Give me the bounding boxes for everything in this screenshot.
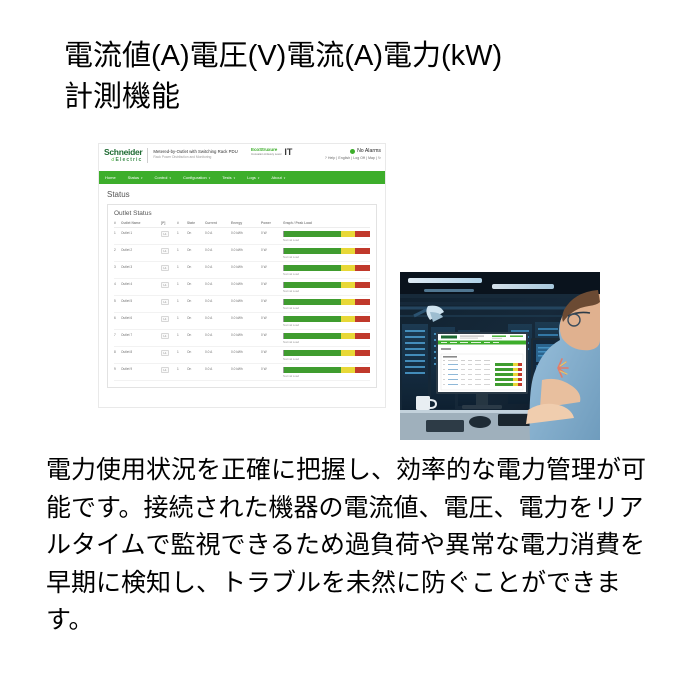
load-bar-segment-yellow: [341, 248, 355, 254]
outlet-state: On: [187, 364, 205, 381]
page-title-line2: 計測機能: [64, 77, 664, 118]
load-status-label: Normal Load: [283, 272, 370, 276]
outlet-state: On: [187, 330, 205, 347]
load-status-label: Normal Load: [283, 323, 370, 327]
outlet-name-link[interactable]: Outlet 9: [121, 364, 161, 381]
load-bar: [283, 299, 370, 305]
nav-item-status[interactable]: Status▾: [128, 175, 143, 180]
nav-item-label: Home: [105, 175, 116, 180]
load-bar-segment-green: [284, 282, 341, 288]
outlet-state: On: [187, 279, 205, 296]
table-row[interactable]: 4Outlet 4L11On0.0 A0.0 kWh0 WNormal Load: [114, 279, 370, 296]
outlet-index: 6: [114, 313, 121, 330]
load-bar-segment-yellow: [341, 231, 355, 237]
outlet-phase: L1: [161, 262, 177, 279]
load-bar: [283, 316, 370, 322]
outlet-energy: 0.0 kWh: [231, 313, 261, 330]
pdu-content: Outlet Status #Outlet Name[P]#StateCurre…: [99, 204, 385, 396]
outlet-power: 0 W: [261, 262, 283, 279]
phase-badge: L1: [161, 282, 169, 288]
load-bar-segment-green: [284, 350, 341, 356]
description-paragraph: 電力使用状況を正確に把握し、効率的な電力管理が可能です。接続された機器の電流値、…: [46, 452, 658, 640]
outlet-energy: 0.0 kWh: [231, 347, 261, 364]
chevron-down-icon: ▾: [258, 176, 260, 180]
outlet-current: 0.0 A: [205, 296, 231, 313]
outlet-energy: 0.0 kWh: [231, 330, 261, 347]
load-status-label: Normal Load: [283, 357, 370, 361]
outlet-state: On: [187, 296, 205, 313]
outlet-current: 0.0 A: [205, 228, 231, 245]
outlet-phase: L1: [161, 313, 177, 330]
outlet-phase: L1: [161, 296, 177, 313]
load-bar-segment-red: [355, 248, 371, 254]
outlet-index: 9: [114, 364, 121, 381]
phase-badge: L1: [161, 333, 169, 339]
chevron-down-icon: ▾: [141, 176, 143, 180]
nav-item-label: About: [271, 175, 281, 180]
phase-badge: L1: [161, 299, 169, 305]
outlet-state: On: [187, 228, 205, 245]
device-title: Metered-by-Outlet with Switching Rack PD…: [153, 149, 237, 160]
outlet-bank-number: 1: [177, 279, 187, 296]
load-bar-segment-yellow: [341, 282, 355, 288]
load-bar: [283, 265, 370, 271]
load-status-label: Normal Load: [283, 374, 370, 378]
outlet-name-link[interactable]: Outlet 2: [121, 245, 161, 262]
it-label: IT: [284, 148, 292, 157]
load-bar-segment-red: [355, 333, 371, 339]
load-bar-segment-red: [355, 367, 371, 373]
ecostruxure-it-logo: EcoStruxure Innovation At Every Level IT: [251, 148, 292, 157]
header-utility-links[interactable]: ? Help | English | Log Off | Map | ↻: [325, 156, 381, 160]
load-bar: [283, 282, 370, 288]
load-bar-segment-yellow: [341, 299, 355, 305]
load-bar-segment-red: [355, 299, 371, 305]
load-status-label: Normal Load: [283, 340, 370, 344]
outlet-power: 0 W: [261, 279, 283, 296]
load-bar-segment-green: [284, 316, 341, 322]
outlet-current: 0.0 A: [205, 330, 231, 347]
logo-name-line2: ☌Electric: [104, 158, 142, 163]
load-bar-segment-red: [355, 231, 371, 237]
load-bar: [283, 231, 370, 237]
outlet-power: 0 W: [261, 296, 283, 313]
table-row[interactable]: 3Outlet 3L11On0.0 A0.0 kWh0 WNormal Load: [114, 262, 370, 279]
outlet-status-card: Outlet Status #Outlet Name[P]#StateCurre…: [107, 204, 377, 388]
outlet-bank-number: 1: [177, 228, 187, 245]
table-row[interactable]: 5Outlet 5L11On0.0 A0.0 kWh0 WNormal Load: [114, 296, 370, 313]
load-bar-segment-yellow: [341, 265, 355, 271]
outlet-current: 0.0 A: [205, 279, 231, 296]
pdu-navigation-bar[interactable]: HomeStatus▾Control▾Configuration▾Tests▾L…: [99, 171, 385, 184]
outlet-name-link[interactable]: Outlet 1: [121, 228, 161, 245]
outlet-load-graph-cell: Normal Load: [283, 364, 370, 381]
load-bar-segment-green: [284, 333, 341, 339]
chevron-down-icon: ▾: [234, 176, 236, 180]
nav-item-tests[interactable]: Tests▾: [222, 175, 235, 180]
outlet-phase: L1: [161, 347, 177, 364]
load-bar-segment-red: [355, 350, 371, 356]
load-bar-segment-yellow: [341, 367, 355, 373]
outlet-power: 0 W: [261, 364, 283, 381]
outlet-current: 0.0 A: [205, 245, 231, 262]
outlet-index: 4: [114, 279, 121, 296]
check-circle-icon: [350, 149, 355, 154]
outlet-power: 0 W: [261, 313, 283, 330]
table-row[interactable]: 2Outlet 2L11On0.0 A0.0 kWh0 WNormal Load: [114, 245, 370, 262]
outlet-status-table-body: 1Outlet 1L11On0.0 A0.0 kWh0 WNormal Load…: [114, 228, 370, 381]
chevron-down-icon: ▾: [169, 176, 171, 180]
outlet-phase: L1: [161, 228, 177, 245]
table-row[interactable]: 7Outlet 7L11On0.0 A0.0 kWh0 WNormal Load: [114, 330, 370, 347]
pdu-web-interface-screenshot: Schneider ☌Electric Metered-by-Outlet wi…: [98, 143, 386, 408]
pdu-page-heading: Status: [99, 184, 385, 204]
load-bar-segment-green: [284, 367, 341, 373]
nav-item-home[interactable]: Home: [105, 175, 116, 180]
nav-item-control[interactable]: Control▾: [155, 175, 171, 180]
alarm-status-area: No Alarms ? Help | English | Log Off | M…: [325, 148, 381, 160]
outlet-name-link[interactable]: Outlet 4: [121, 279, 161, 296]
chevron-down-icon: ▾: [209, 176, 211, 180]
phase-badge: L1: [161, 367, 169, 373]
outlet-current: 0.0 A: [205, 364, 231, 381]
outlet-bank-number: 1: [177, 330, 187, 347]
outlet-state: On: [187, 262, 205, 279]
phase-badge: L1: [161, 265, 169, 271]
outlet-name-link[interactable]: Outlet 7: [121, 330, 161, 347]
table-row[interactable]: 6Outlet 6L11On0.0 A0.0 kWh0 WNormal Load: [114, 313, 370, 330]
load-status-label: Normal Load: [283, 306, 370, 310]
chevron-down-icon: ▾: [284, 176, 286, 180]
outlet-load-graph-cell: Normal Load: [283, 313, 370, 330]
nav-item-label: Status: [128, 175, 139, 180]
load-bar-segment-yellow: [341, 350, 355, 356]
outlet-current: 0.0 A: [205, 313, 231, 330]
outlet-current: 0.0 A: [205, 262, 231, 279]
outlet-state: On: [187, 347, 205, 364]
outlet-load-graph-cell: Normal Load: [283, 330, 370, 347]
load-status-label: Normal Load: [283, 289, 370, 293]
outlet-load-graph-cell: Normal Load: [283, 228, 370, 245]
nav-item-configuration[interactable]: Configuration▾: [183, 175, 210, 180]
load-status-label: Normal Load: [283, 255, 370, 259]
outlet-energy: 0.0 kWh: [231, 245, 261, 262]
outlet-index: 3: [114, 262, 121, 279]
page-title: 電流値(A)電圧(V)電流(A)電力(kW) 計測機能: [64, 36, 664, 118]
load-bar-segment-red: [355, 282, 371, 288]
outlet-index: 2: [114, 245, 121, 262]
load-bar: [283, 333, 370, 339]
outlet-name-link[interactable]: Outlet 6: [121, 313, 161, 330]
load-bar: [283, 367, 370, 373]
outlet-power: 0 W: [261, 330, 283, 347]
outlet-load-graph-cell: Normal Load: [283, 279, 370, 296]
outlet-bank-number: 1: [177, 262, 187, 279]
outlet-power: 0 W: [261, 228, 283, 245]
outlet-bank-number: 1: [177, 347, 187, 364]
outlet-name-link[interactable]: Outlet 3: [121, 262, 161, 279]
nav-item-label: Logs: [247, 175, 256, 180]
outlet-index: 7: [114, 330, 121, 347]
outlet-phase: L1: [161, 364, 177, 381]
load-bar-segment-green: [284, 248, 341, 254]
outlet-power: 0 W: [261, 347, 283, 364]
outlet-load-graph-cell: Normal Load: [283, 262, 370, 279]
ecostruxure-tagline: Innovation At Every Level: [251, 153, 281, 157]
outlet-name-link[interactable]: Outlet 8: [121, 347, 161, 364]
nav-item-label: Tests: [222, 175, 231, 180]
outlet-index: 5: [114, 296, 121, 313]
phase-badge: L1: [161, 350, 169, 356]
table-row[interactable]: 8Outlet 8L11On0.0 A0.0 kWh0 WNormal Load: [114, 347, 370, 364]
outlet-load-graph-cell: Normal Load: [283, 296, 370, 313]
phase-badge: L1: [161, 316, 169, 322]
outlet-bank-number: 1: [177, 313, 187, 330]
outlet-bank-number: 1: [177, 245, 187, 262]
outlet-load-graph-cell: Normal Load: [283, 245, 370, 262]
nav-item-label: Configuration: [183, 175, 207, 180]
device-subtitle-label: Rack Power Distribution and Monitoring: [153, 155, 237, 160]
outlet-energy: 0.0 kWh: [231, 228, 261, 245]
load-bar: [283, 248, 370, 254]
outlet-bank-number: 1: [177, 364, 187, 381]
pdu-header: Schneider ☌Electric Metered-by-Outlet wi…: [99, 144, 385, 171]
load-bar: [283, 350, 370, 356]
page-title-line1: 電流値(A)電圧(V)電流(A)電力(kW): [64, 36, 664, 77]
table-row[interactable]: 9Outlet 9L11On0.0 A0.0 kWh0 WNormal Load: [114, 364, 370, 381]
nav-item-label: Control: [155, 175, 168, 180]
outlet-state: On: [187, 313, 205, 330]
phase-badge: L1: [161, 248, 169, 254]
outlet-phase: L1: [161, 245, 177, 262]
outlet-phase: L1: [161, 330, 177, 347]
outlet-phase: L1: [161, 279, 177, 296]
load-bar-segment-red: [355, 265, 371, 271]
table-row[interactable]: 1Outlet 1L11On0.0 A0.0 kWh0 WNormal Load: [114, 228, 370, 245]
outlet-energy: 0.0 kWh: [231, 279, 261, 296]
nav-item-about[interactable]: About▾: [271, 175, 285, 180]
outlet-index: 8: [114, 347, 121, 364]
alarm-status-row: No Alarms: [325, 148, 381, 154]
logo-name-line1: Schneider: [104, 148, 142, 157]
outlet-energy: 0.0 kWh: [231, 262, 261, 279]
load-bar-segment-green: [284, 231, 341, 237]
outlet-index: 1: [114, 228, 121, 245]
outlet-energy: 0.0 kWh: [231, 296, 261, 313]
outlet-state: On: [187, 245, 205, 262]
outlet-name-link[interactable]: Outlet 5: [121, 296, 161, 313]
outlet-energy: 0.0 kWh: [231, 364, 261, 381]
ecostruxure-mark: EcoStruxure Innovation At Every Level: [251, 148, 281, 157]
load-bar-segment-green: [284, 265, 341, 271]
phase-badge: L1: [161, 231, 169, 237]
load-bar-segment-green: [284, 299, 341, 305]
outlet-load-graph-cell: Normal Load: [283, 347, 370, 364]
outlet-bank-number: 1: [177, 296, 187, 313]
outlet-status-table: #Outlet Name[P]#StateCurrentEnergyPowerG…: [114, 221, 370, 381]
load-bar-segment-yellow: [341, 316, 355, 322]
outlet-current: 0.0 A: [205, 347, 231, 364]
outlet-status-card-title: Outlet Status: [114, 210, 370, 217]
schneider-electric-logo: Schneider ☌Electric: [104, 148, 148, 163]
alarm-status-label: No Alarms: [357, 148, 381, 154]
load-bar-segment-yellow: [341, 333, 355, 339]
datacenter-technician-photo: [400, 272, 600, 440]
load-bar-segment-red: [355, 316, 371, 322]
load-status-label: Normal Load: [283, 238, 370, 242]
nav-item-logs[interactable]: Logs▾: [247, 175, 259, 180]
outlet-power: 0 W: [261, 245, 283, 262]
